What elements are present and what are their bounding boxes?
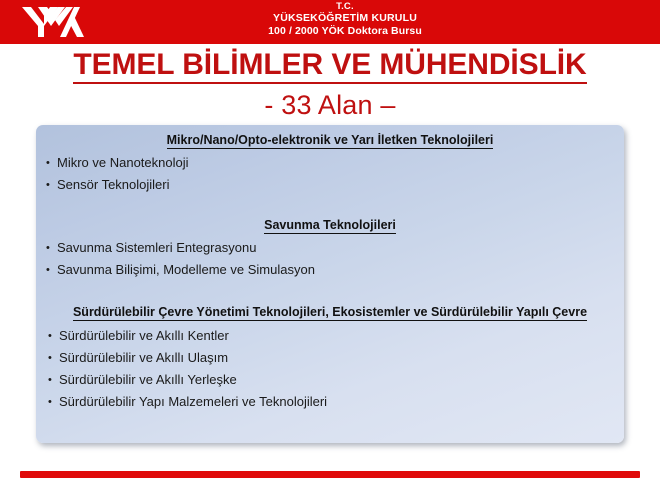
section-surdurulebilir: Sürdürülebilir Çevre Yönetimi Teknolojil… [36,305,624,413]
list-item: Sürdürülebilir ve Akıllı Ulaşım [48,347,624,369]
section-title-text: Savunma Teknolojileri [264,218,396,234]
section-title: Sürdürülebilir Çevre Yönetimi Teknolojil… [36,305,624,320]
list-item: Savunma Bilişimi, Modelleme ve Simulasyo… [46,259,624,281]
page-subtitle: - 33 Alan – [0,90,660,121]
section-micro-nano: Mikro/Nano/Opto-elektronik ve Yarı İletk… [36,133,624,196]
yok-logo-icon [22,5,84,39]
page-title: TEMEL BİLİMLER VE MÜHENDİSLİK [0,48,660,82]
section-title-text: Mikro/Nano/Opto-elektronik ve Yarı İletk… [167,133,494,149]
list-item: Sensör Teknolojileri [46,174,624,196]
section-title: Savunma Teknolojileri [36,218,624,233]
list-item: Savunma Sistemleri Entegrasyonu [46,237,624,259]
list-item: Mikro ve Nanoteknoloji [46,152,624,174]
content-panel: Mikro/Nano/Opto-elektronik ve Yarı İletk… [36,125,624,443]
list-item: Sürdürülebilir ve Akıllı Kentler [48,325,624,347]
section-title: Mikro/Nano/Opto-elektronik ve Yarı İletk… [36,133,624,148]
section-savunma: Savunma Teknolojileri Savunma Sistemleri… [36,218,624,281]
header-line-tc: T.C. [110,1,580,12]
list-item: Sürdürülebilir ve Akıllı Yerleşke [48,369,624,391]
header-titles: T.C. YÜKSEKÖĞRETİM KURULU 100 / 2000 YÖK… [110,1,580,37]
page-title-text: TEMEL BİLİMLER VE MÜHENDİSLİK [73,48,586,84]
footer-rule [20,471,640,478]
section-item-list: Mikro ve Nanoteknoloji Sensör Teknolojil… [46,152,624,196]
section-title-text: Sürdürülebilir Çevre Yönetimi Teknolojil… [73,305,587,321]
header-line-institution: YÜKSEKÖĞRETİM KURULU [110,12,580,24]
header-line-program: 100 / 2000 YÖK Doktora Bursu [110,25,580,37]
header-band: T.C. YÜKSEKÖĞRETİM KURULU 100 / 2000 YÖK… [0,0,660,44]
section-item-list: Savunma Sistemleri Entegrasyonu Savunma … [46,237,624,281]
list-item: Sürdürülebilir Yapı Malzemeleri ve Tekno… [48,391,624,413]
section-item-list: Sürdürülebilir ve Akıllı Kentler Sürdürü… [48,325,624,413]
